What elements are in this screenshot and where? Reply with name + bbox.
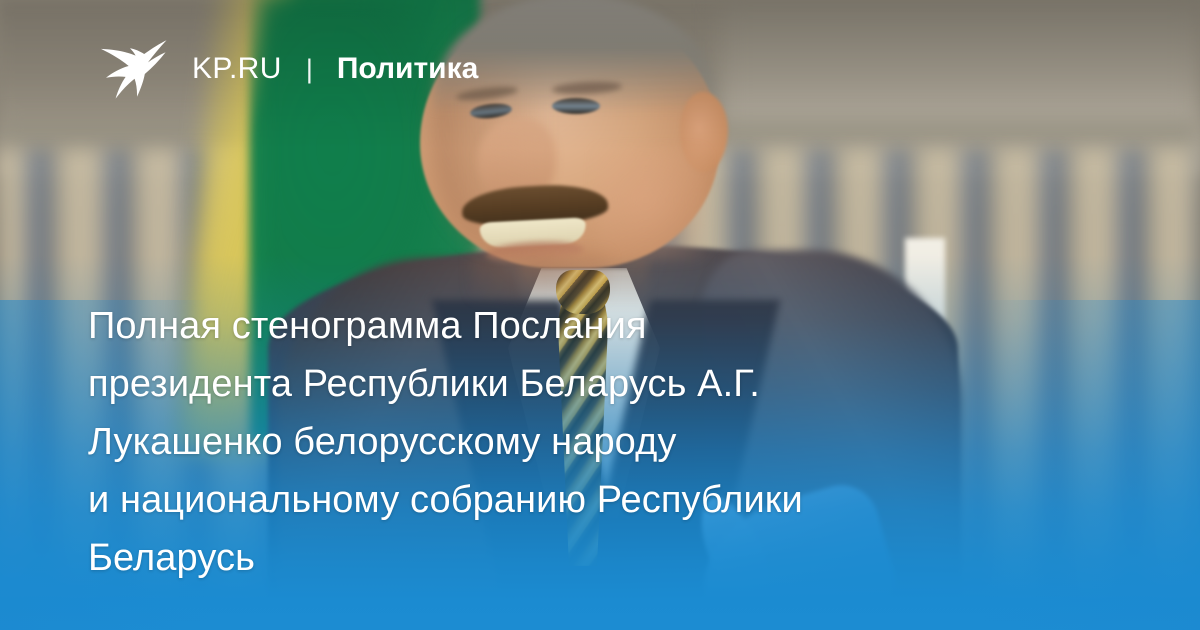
- chin-shading: [470, 252, 610, 302]
- brand-header: KP.RU | Политика: [96, 38, 478, 100]
- headline-line: и национальному собранию Республики: [88, 471, 1128, 529]
- eye-right: [552, 98, 600, 114]
- social-share-card: KP.RU | Политика Полная стенограмма Посл…: [0, 0, 1200, 630]
- swallow-bird-icon[interactable]: [96, 38, 168, 100]
- cheek-highlight: [596, 150, 706, 260]
- headline-line: Беларусь: [88, 529, 1128, 587]
- headline-line: Лукашенко белорусскому народу: [88, 413, 1128, 471]
- headline-line: Полная стенограмма Послания: [88, 297, 1128, 355]
- article-headline: Полная стенограмма Послания президента Р…: [88, 297, 1128, 587]
- brand-name[interactable]: KP.RU: [192, 54, 282, 84]
- rubric-label[interactable]: Политика: [337, 54, 478, 84]
- header-separator: |: [306, 56, 313, 83]
- headline-line: президента Республики Беларусь А.Г.: [88, 355, 1128, 413]
